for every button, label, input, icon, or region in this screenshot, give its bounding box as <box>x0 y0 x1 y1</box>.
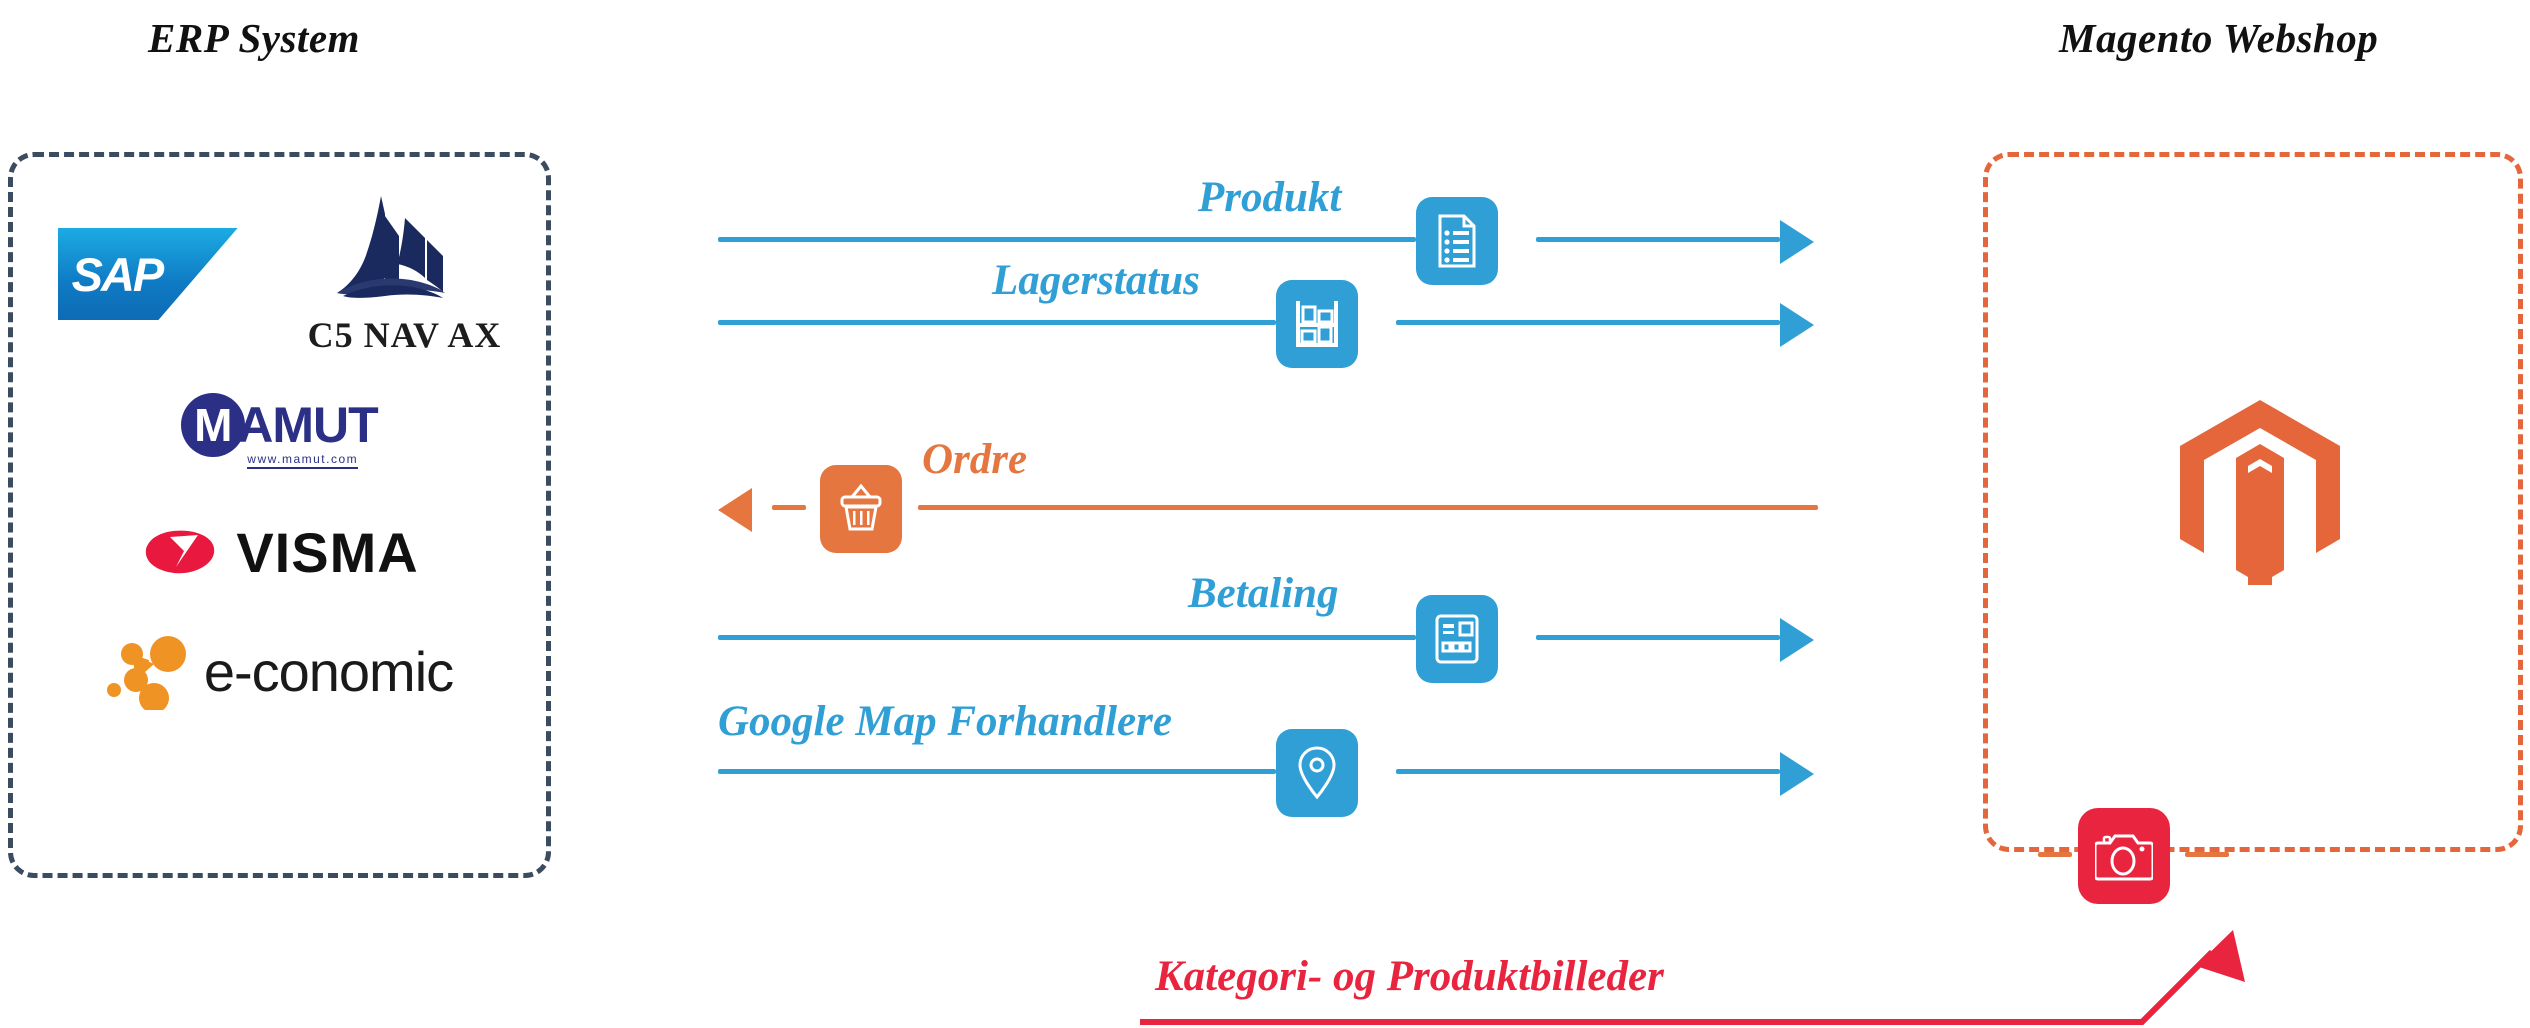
flow-label-kategori-produktbilleder: Kategori- og Produktbilleder <box>1155 955 1664 998</box>
flow-line-right <box>1536 237 1780 242</box>
flow-line-left <box>718 635 1416 640</box>
flow-row-lagerstatus: Lagerstatus <box>0 263 2530 383</box>
arrow-right-icon <box>1780 752 1814 796</box>
flow-dash-segment-left <box>2038 852 2072 857</box>
flow-line-right <box>1536 635 1780 640</box>
warehouse-shelf-icon[interactable] <box>1276 280 1358 368</box>
flow-label-produkt: Produkt <box>1198 176 1341 219</box>
arrow-right-icon <box>1780 303 1814 347</box>
flow-row-betaling: Betaling <box>0 578 2530 698</box>
flow-label-lagerstatus: Lagerstatus <box>992 259 1200 302</box>
flow-label-ordre: Ordre <box>922 438 1027 481</box>
flow-label-google-map-forhandlere: Google Map Forhandlere <box>718 700 1172 743</box>
arrow-left-icon <box>718 488 752 532</box>
flow-line-right <box>918 505 1818 510</box>
map-pin-icon[interactable] <box>1276 729 1358 817</box>
flow-row-ordre: Ordre <box>0 448 2530 568</box>
flow-line-right <box>1396 769 1780 774</box>
mamut-logo-label: AMUT <box>237 400 377 450</box>
mamut-initial: M <box>194 402 232 448</box>
arrow-right-icon <box>1780 618 1814 662</box>
flow-line-right <box>1396 320 1780 325</box>
shopping-basket-icon[interactable] <box>820 465 902 553</box>
magento-panel-title: Magento Webshop <box>2059 14 2378 62</box>
erp-panel-title: ERP System <box>148 14 360 62</box>
flow-line-left <box>718 769 1276 774</box>
flow-line-left <box>718 237 1416 242</box>
flow-dash-segment-right <box>2185 852 2229 857</box>
flow-line-left <box>718 320 1276 325</box>
diagram-canvas: ERP System Magento Webshop SAP C5 NAV AX <box>0 0 2530 1028</box>
camera-icon[interactable] <box>2078 808 2170 904</box>
flow-label-betaling: Betaling <box>1188 572 1339 615</box>
flow-dash-segment <box>772 505 806 510</box>
arrow-right-icon <box>1780 220 1814 264</box>
payment-terminal-icon[interactable] <box>1416 595 1498 683</box>
